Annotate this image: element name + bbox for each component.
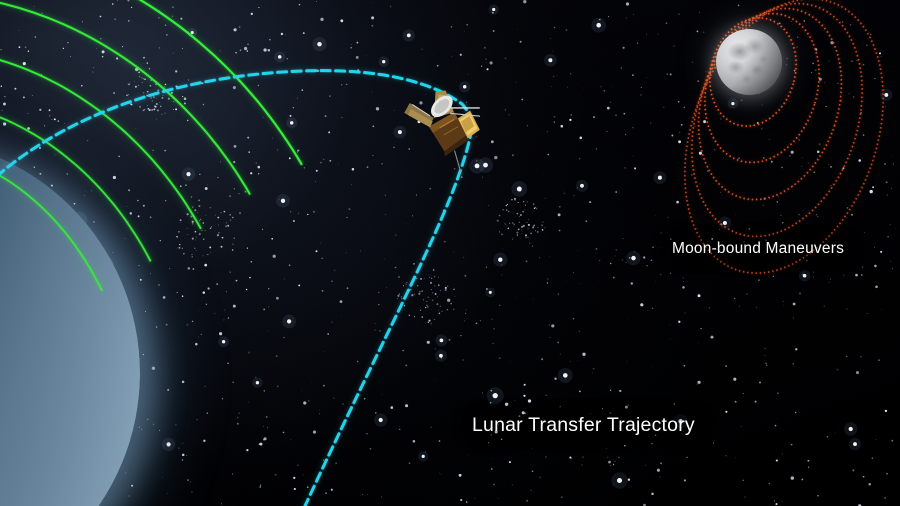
lunar-transfer-label: Lunar Transfer Trajectory — [472, 414, 695, 437]
moon-bound-label: Moon-bound Maneuvers — [672, 240, 844, 258]
trajectory-diagram: Lunar Transfer Trajectory Moon-bound Man… — [0, 0, 900, 506]
moon — [716, 29, 782, 95]
spacecraft — [404, 82, 488, 174]
